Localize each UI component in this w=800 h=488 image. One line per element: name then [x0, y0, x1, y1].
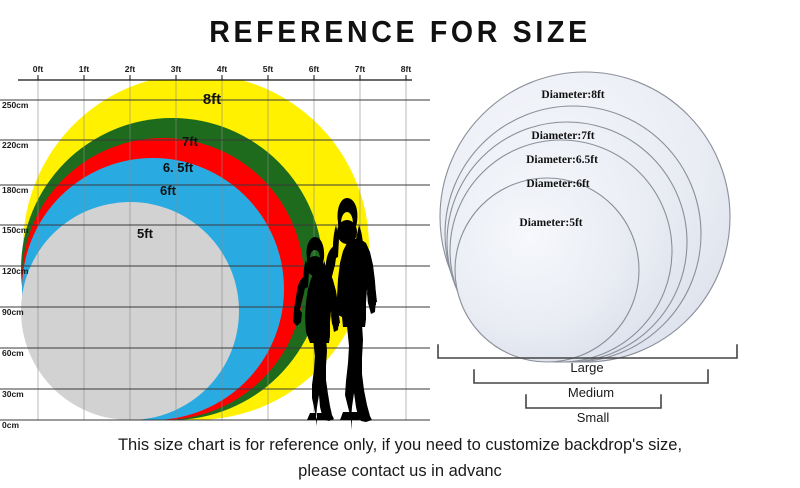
disc-label-7ft: Diameter:7ft	[531, 130, 594, 142]
bracket-label-small: Small	[577, 410, 610, 425]
x-tick-6ft: 6ft	[309, 64, 320, 74]
height-chart-svg: 0ft 1ft 2ft 3ft 4ft 5ft 6ft 7ft 8ft 250c…	[0, 62, 430, 430]
x-tick-2ft: 2ft	[125, 64, 136, 74]
diameter-diagram: Diameter:8ft Diameter:7ft Diameter:6.5ft…	[430, 62, 800, 430]
x-axis-ticks	[38, 75, 406, 80]
y-tick-90cm: 90cm	[2, 307, 24, 317]
disc-label-6ft: Diameter:6ft	[526, 178, 589, 190]
ring-label-6ft: 6ft	[160, 183, 177, 198]
ring-label-7ft: 7ft	[182, 134, 199, 149]
x-tick-7ft: 7ft	[355, 64, 366, 74]
y-tick-220cm: 220cm	[2, 140, 29, 150]
disc-label-65ft: Diameter:6.5ft	[526, 154, 598, 166]
disclaimer-caption: This size chart is for reference only, i…	[0, 432, 800, 484]
x-tick-1ft: 1ft	[79, 64, 90, 74]
y-tick-150cm: 150cm	[2, 225, 29, 235]
size-reference-chart: REFERENCE FOR SIZE	[0, 0, 800, 488]
bracket-label-medium: Medium	[568, 385, 614, 400]
y-tick-120cm: 120cm	[2, 266, 29, 276]
x-tick-8ft: 8ft	[401, 64, 412, 74]
bracket-label-large: Large	[570, 360, 603, 375]
x-tick-0ft: 0ft	[33, 64, 44, 74]
disc-label-8ft: Diameter:8ft	[541, 89, 604, 101]
disc-label-5ft: Diameter:5ft	[519, 217, 582, 229]
x-tick-5ft: 5ft	[263, 64, 274, 74]
y-tick-180cm: 180cm	[2, 185, 29, 195]
page-title: REFERENCE FOR SIZE	[32, 14, 768, 50]
caption-line-2: please contact us in advanc	[0, 458, 800, 484]
ring-label-5ft: 5ft	[137, 226, 154, 241]
disc-5ft	[455, 178, 639, 362]
caption-line-1: This size chart is for reference only, i…	[0, 432, 800, 458]
y-tick-0cm: 0cm	[2, 420, 19, 430]
x-tick-3ft: 3ft	[171, 64, 182, 74]
y-tick-250cm: 250cm	[2, 100, 29, 110]
y-tick-30cm: 30cm	[2, 389, 24, 399]
x-tick-4ft: 4ft	[217, 64, 228, 74]
y-tick-60cm: 60cm	[2, 348, 24, 358]
ring-label-8ft: 8ft	[203, 91, 221, 108]
diameter-discs	[440, 72, 730, 362]
height-comparison-chart: 0ft 1ft 2ft 3ft 4ft 5ft 6ft 7ft 8ft 250c…	[0, 62, 430, 430]
diameter-svg: Diameter:8ft Diameter:7ft Diameter:6.5ft…	[430, 62, 800, 430]
ring-label-65ft: 6. 5ft	[163, 160, 194, 175]
